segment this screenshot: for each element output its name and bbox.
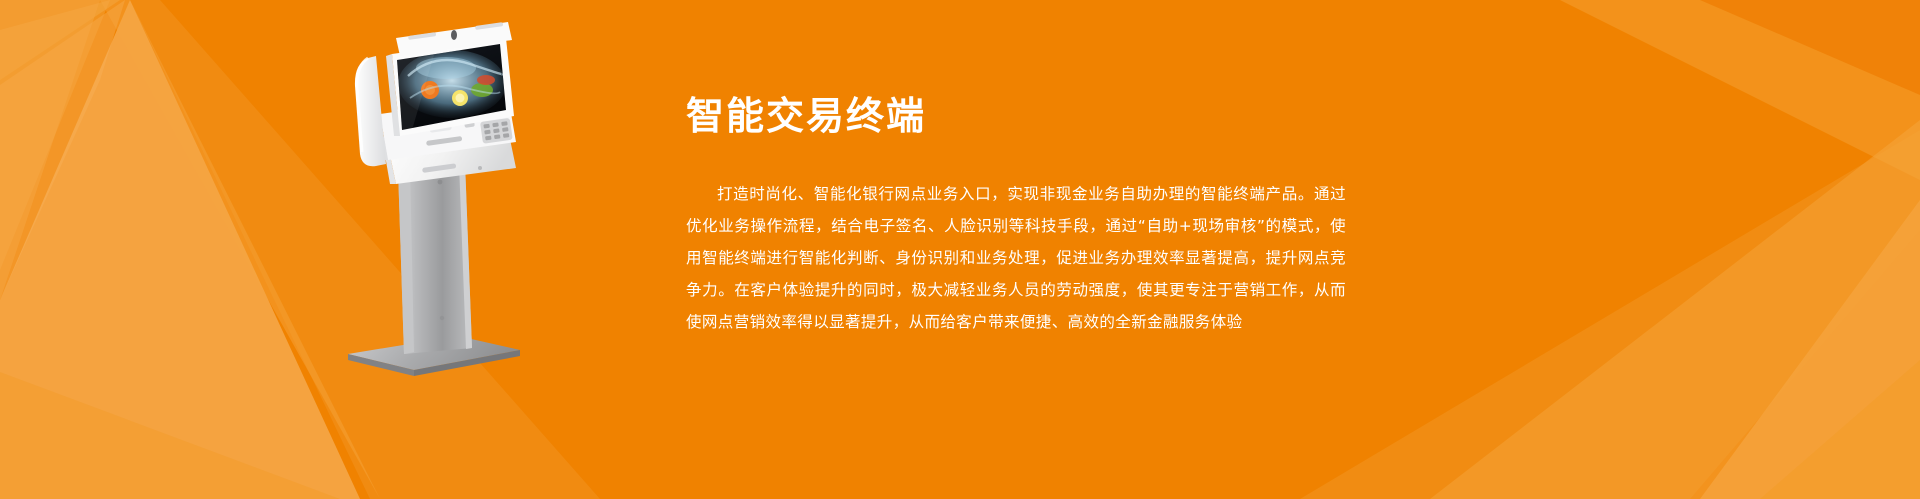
camera-icon (451, 30, 457, 40)
product-description: 打造时尚化、智能化银行网点业务入口，实现非现金业务自助办理的智能终端产品。通过优… (686, 178, 1346, 338)
red-vegetable (477, 75, 495, 85)
product-banner: 智能交易终端 打造时尚化、智能化银行网点业务入口，实现非现金业务自助办理的智能终… (0, 0, 1920, 499)
keypad[interactable] (480, 118, 513, 144)
kiosk-svg (330, 18, 600, 390)
pedestal-screw-bottom (440, 316, 444, 320)
pedestal-screw-top (438, 180, 443, 185)
indicator-led (478, 166, 482, 170)
copy-block: 智能交易终端 打造时尚化、智能化银行网点业务入口，实现非现金业务自助办理的智能终… (686, 96, 1366, 338)
kiosk-illustration (330, 18, 600, 390)
page-title: 智能交易终端 (686, 96, 1366, 138)
